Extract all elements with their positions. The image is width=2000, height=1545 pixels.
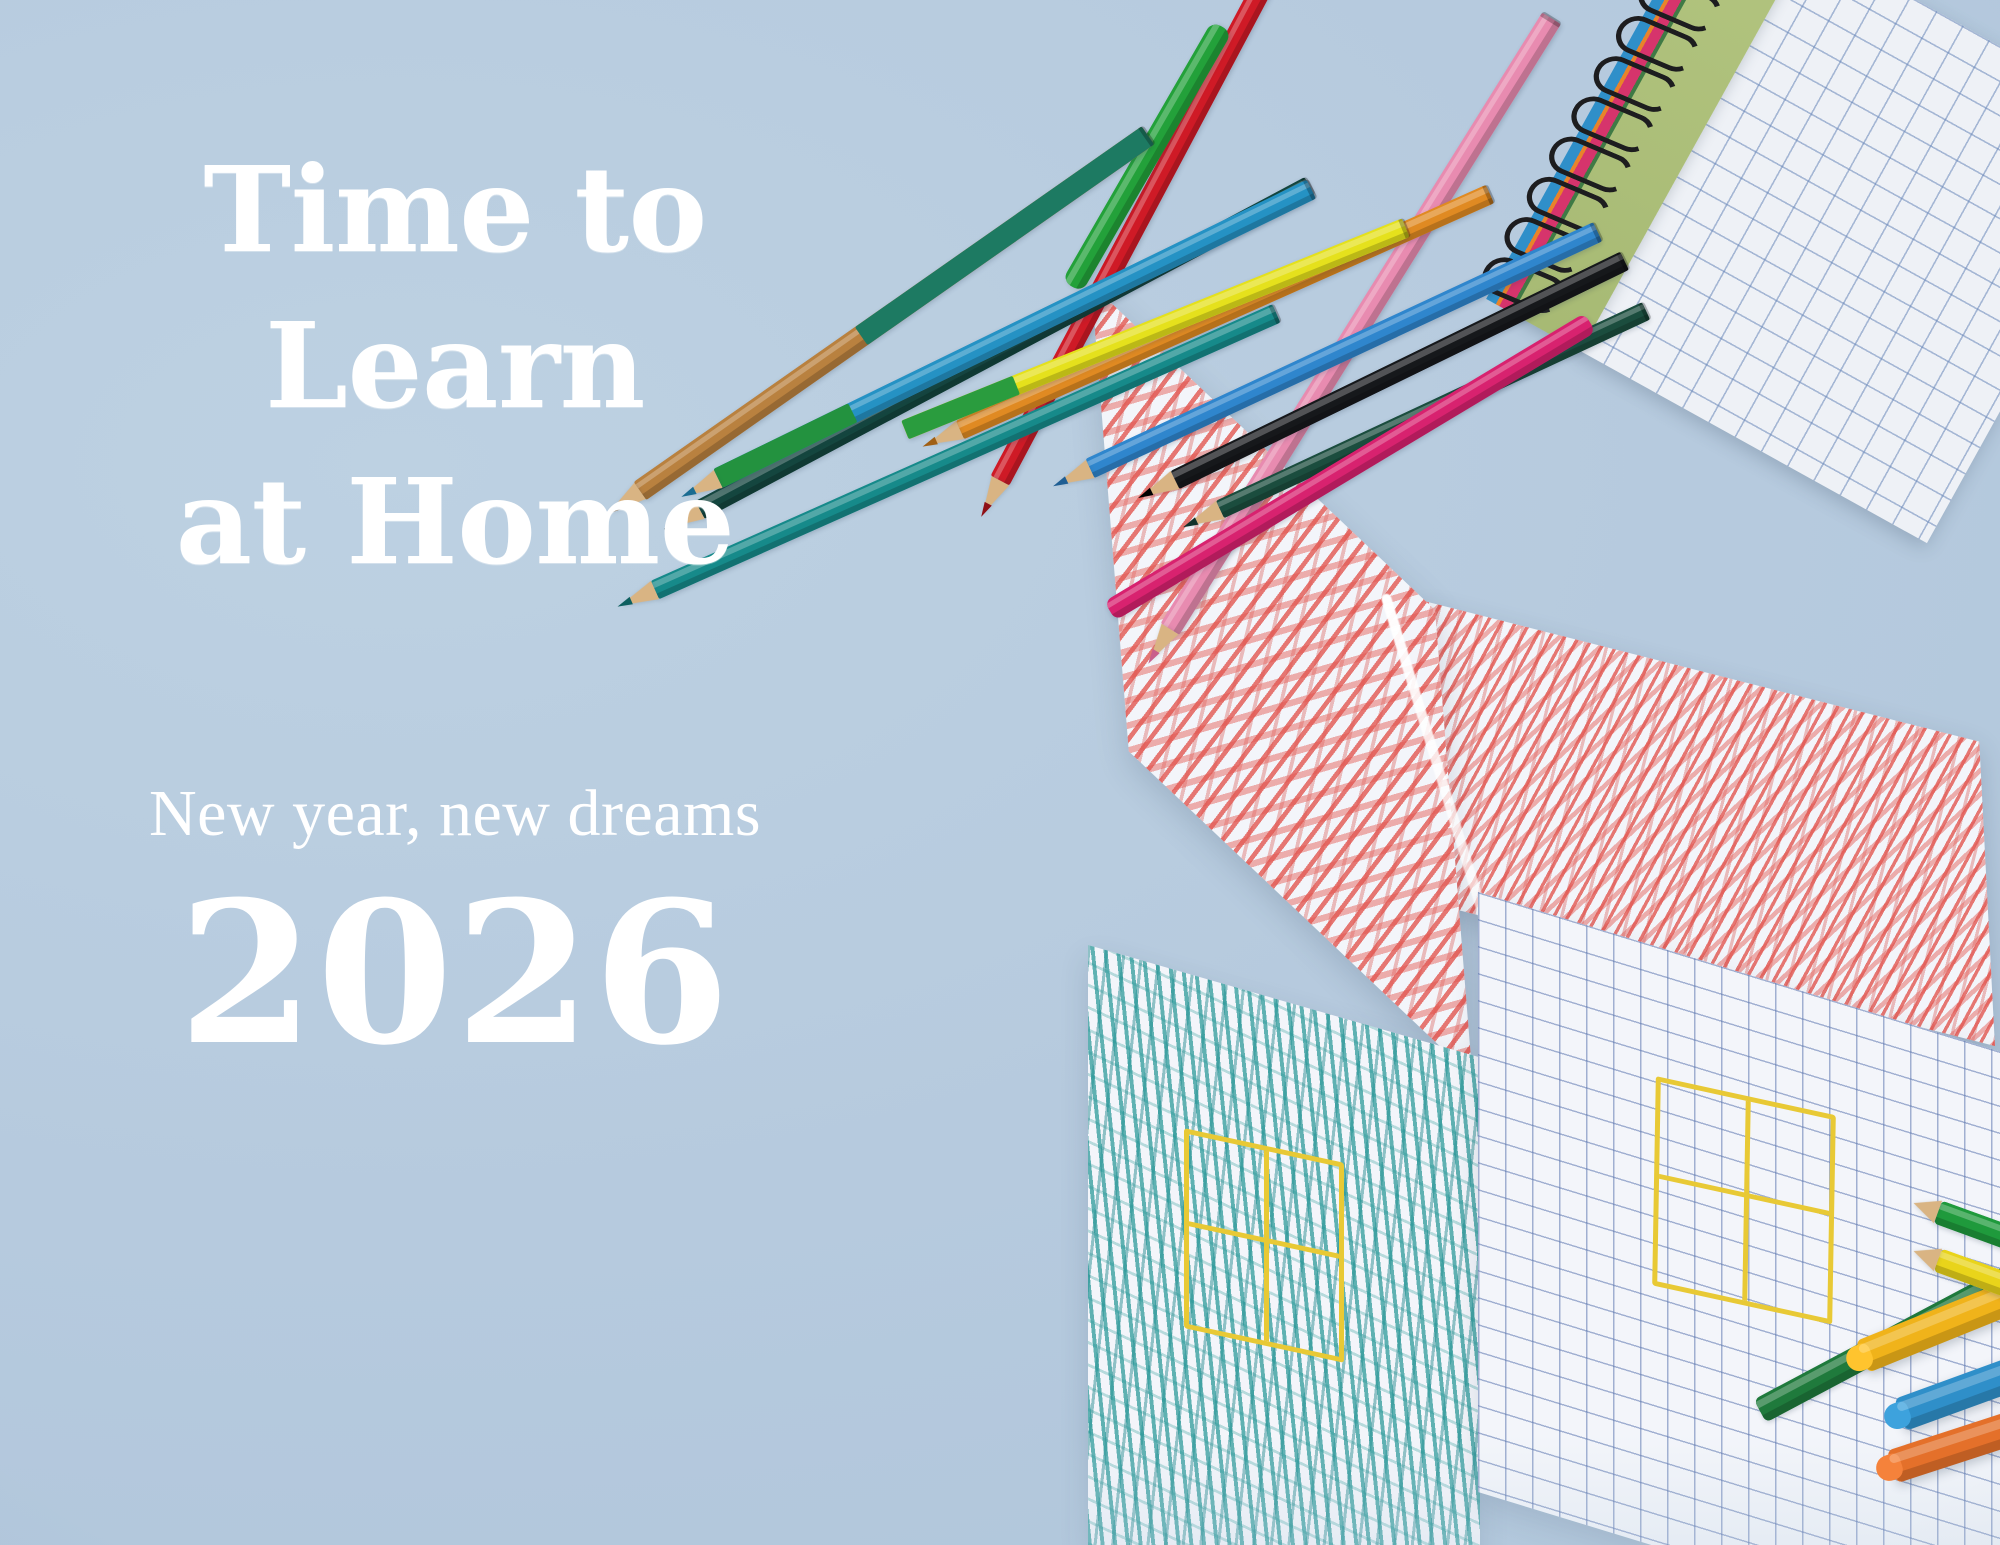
subtitle: New year, new dreams	[60, 778, 850, 851]
year-label: 2026	[60, 872, 850, 1078]
headline-line-1: Time to Learn	[60, 132, 850, 444]
poster-canvas: Time to Learn at Home New year, new drea…	[0, 0, 2000, 1545]
page-title: Time to Learn at Home	[60, 132, 850, 599]
headline-line-2: at Home	[60, 444, 850, 600]
